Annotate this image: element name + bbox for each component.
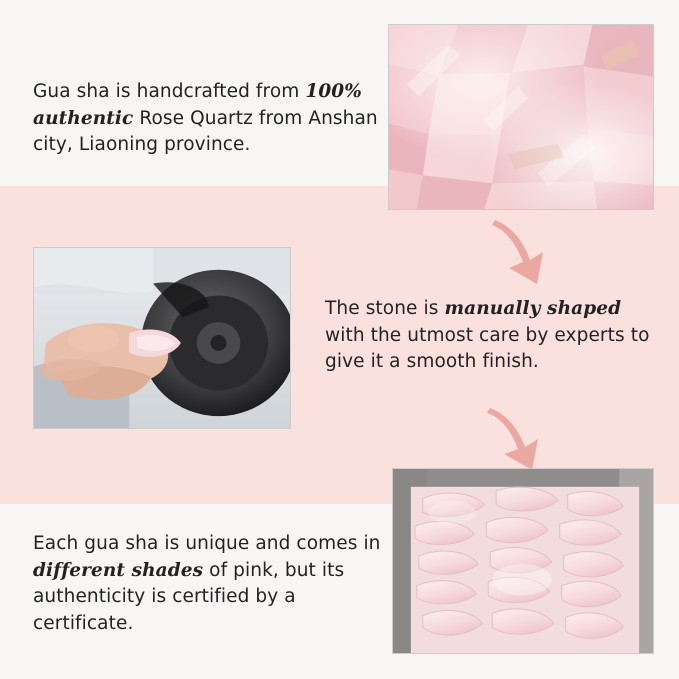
shaping-illustration [34,248,290,428]
rose-quartz-raw-stone-photo [388,24,654,210]
step-2-text-part-2: with the utmost care by experts to give … [325,325,650,373]
step-3-text-part-1: Each gua sha is unique and comes in [33,533,381,554]
gua-sha-batch-illustration [393,469,653,653]
step-2-text-part-1: The stone is [325,298,444,319]
step-1-caption: Gua sha is handcrafted from 100% authent… [33,79,378,159]
step-1-text-part-1: Gua sha is handcrafted from [33,81,305,102]
step-2-caption: The stone is manually shaped with the ut… [325,296,660,376]
tray-of-finished-gua-sha-stones-photo [392,468,654,654]
infographic-page: Gua sha is handcrafted from 100% authent… [0,0,679,679]
step-2-text-emphasis: manually shaped [444,298,621,319]
down-right-arrow-icon [484,404,546,474]
step-3-caption: Each gua sha is unique and comes in diff… [33,531,383,637]
step-3-text-emphasis: different shades [33,560,203,581]
arrow-1-shape [489,216,551,288]
arrow-2-shape [484,404,546,474]
down-right-arrow-icon [489,216,551,288]
hands-shaping-stone-on-grinder-photo [33,247,291,429]
rose-quartz-illustration [389,25,653,209]
